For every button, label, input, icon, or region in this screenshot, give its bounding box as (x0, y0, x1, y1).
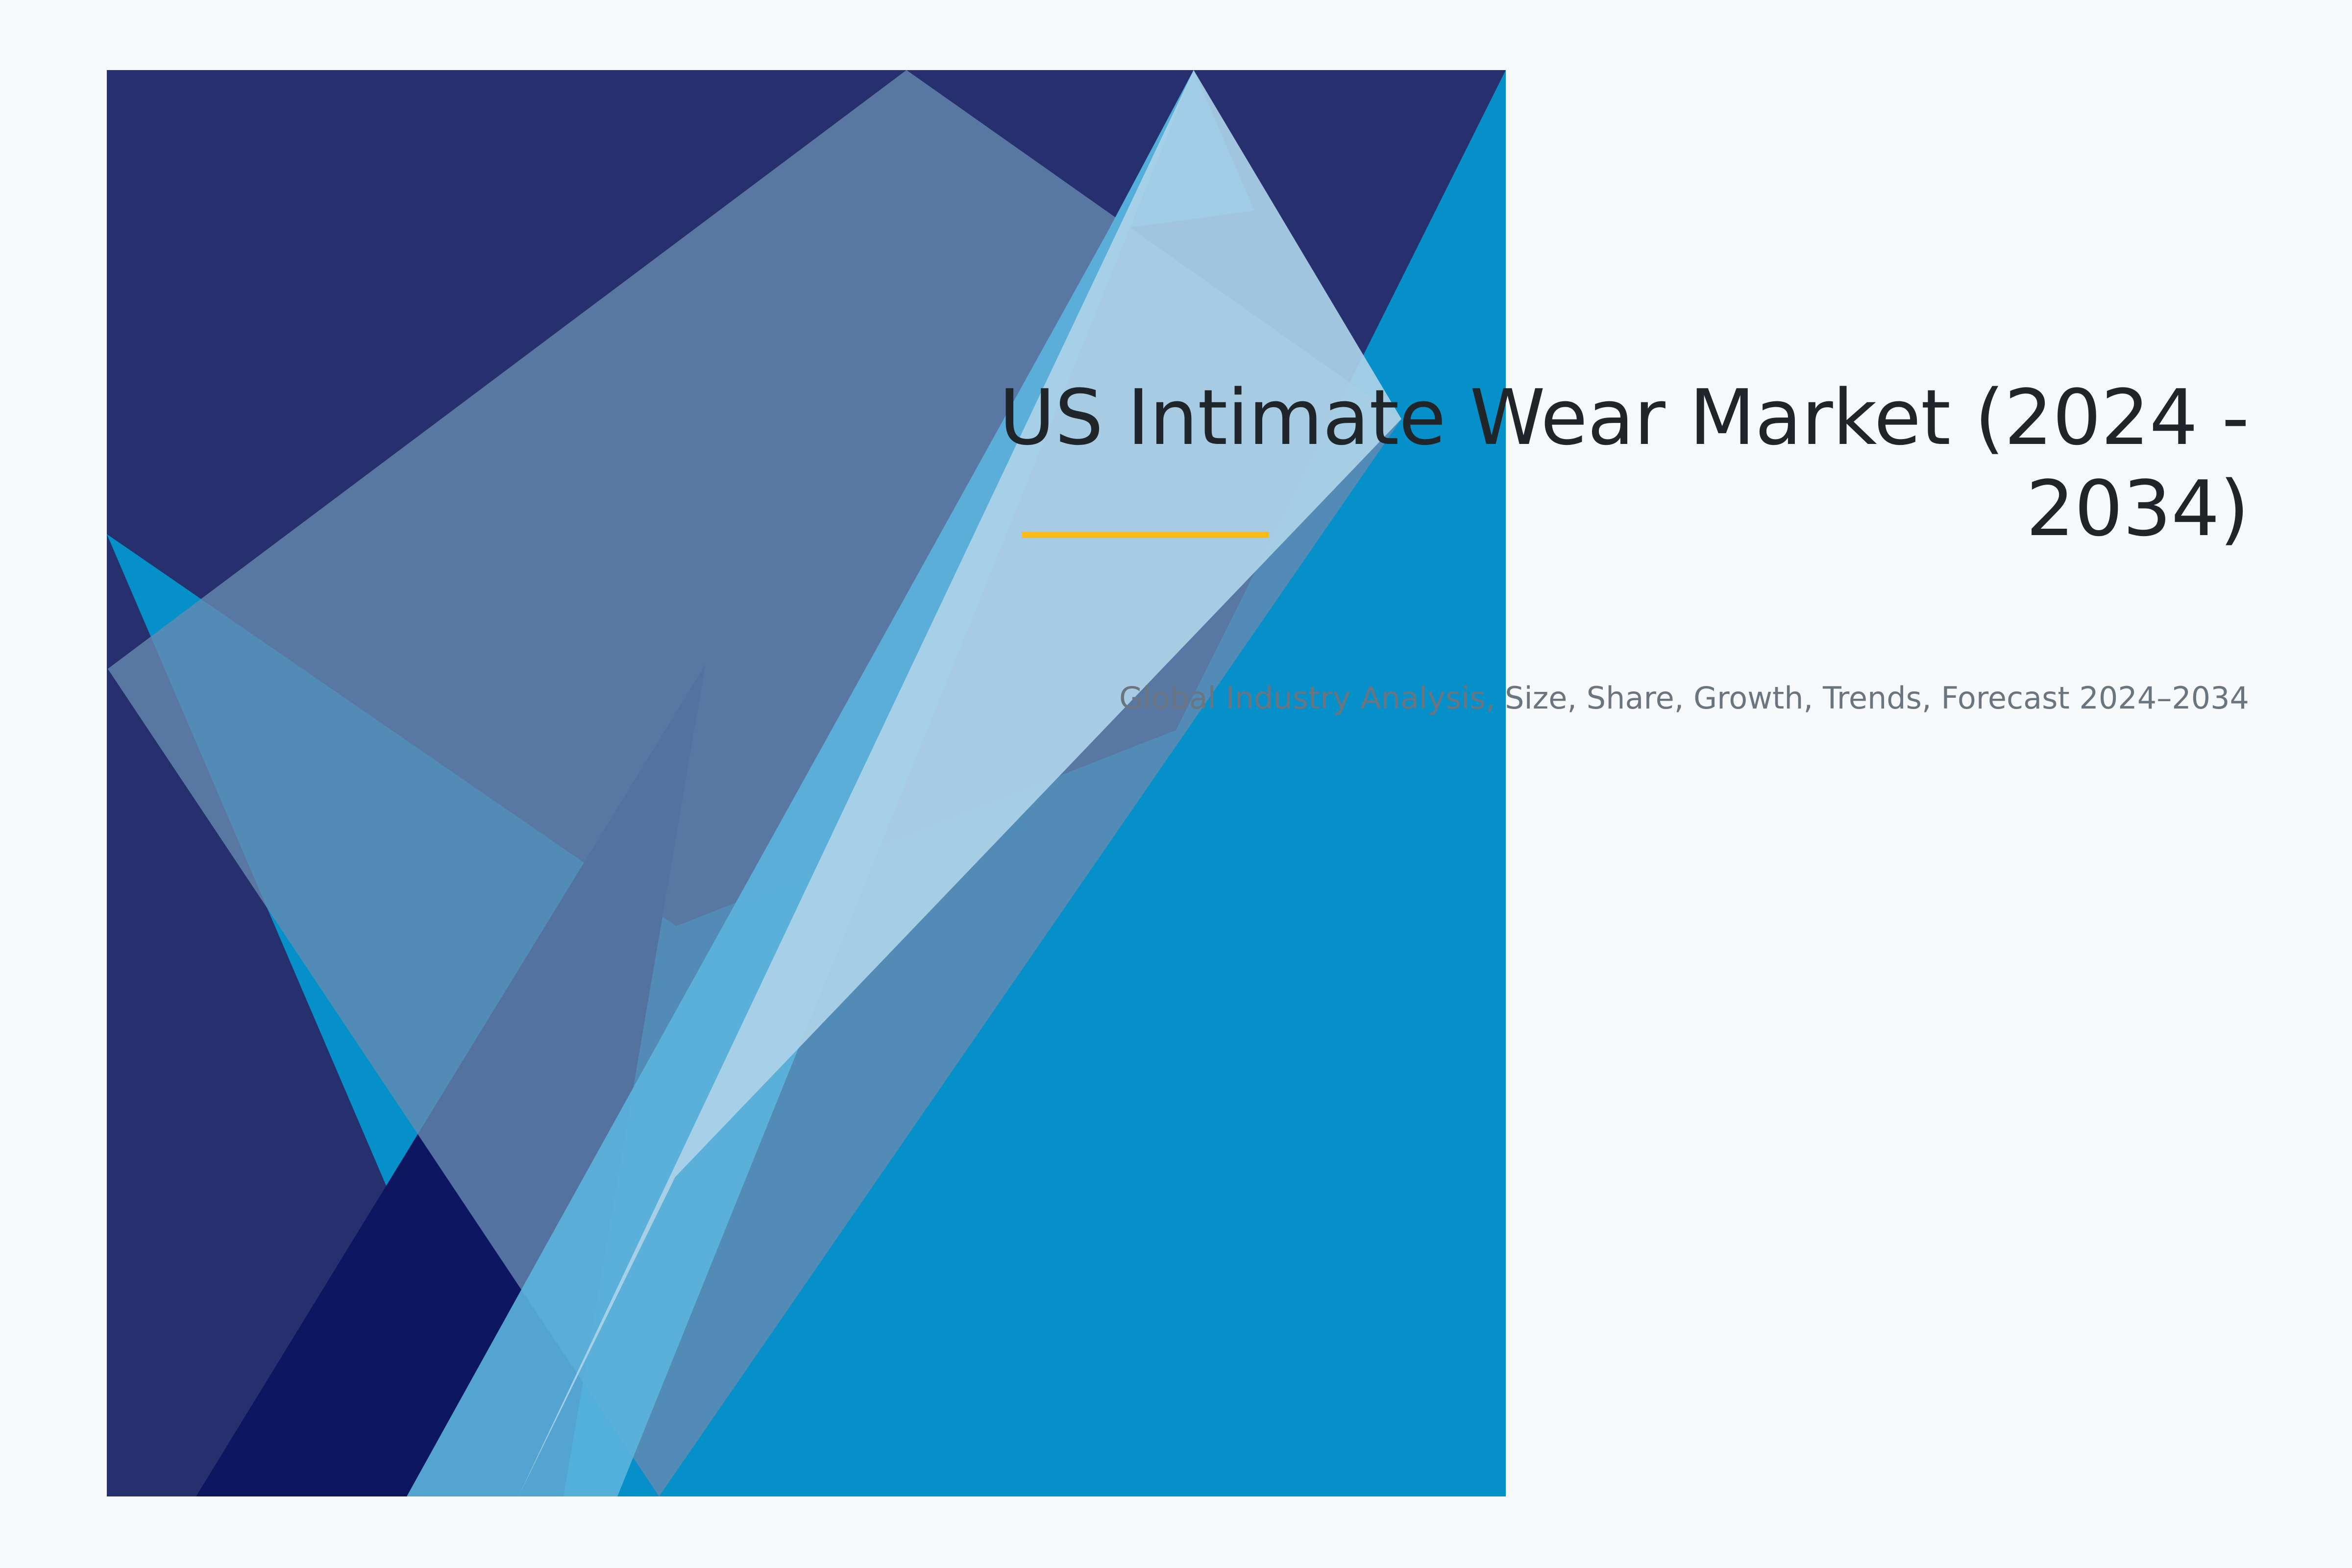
page-subtitle: Global Industry Analysis, Size, Share, G… (980, 679, 2249, 718)
pale-blue-quad (518, 70, 1401, 1496)
cover-slide: US Intimate Wear Market (2024 - 2034) Gl… (0, 0, 2352, 1568)
mid-blue-band (407, 70, 1194, 1496)
page-title: US Intimate Wear Market (2024 - 2034) (980, 372, 2249, 554)
cyan-base-rect (107, 70, 1506, 1496)
slate-blue-quad (108, 70, 1401, 1496)
navy-left-column (107, 534, 519, 1496)
title-wrap: US Intimate Wear Market (2024 - 2034) (980, 372, 2249, 554)
title-block: US Intimate Wear Market (2024 - 2034) (980, 372, 2249, 554)
cyan-sliver (1108, 70, 1254, 230)
deep-navy-spike (196, 664, 706, 1496)
geometric-cover-graphic (0, 0, 2352, 1568)
